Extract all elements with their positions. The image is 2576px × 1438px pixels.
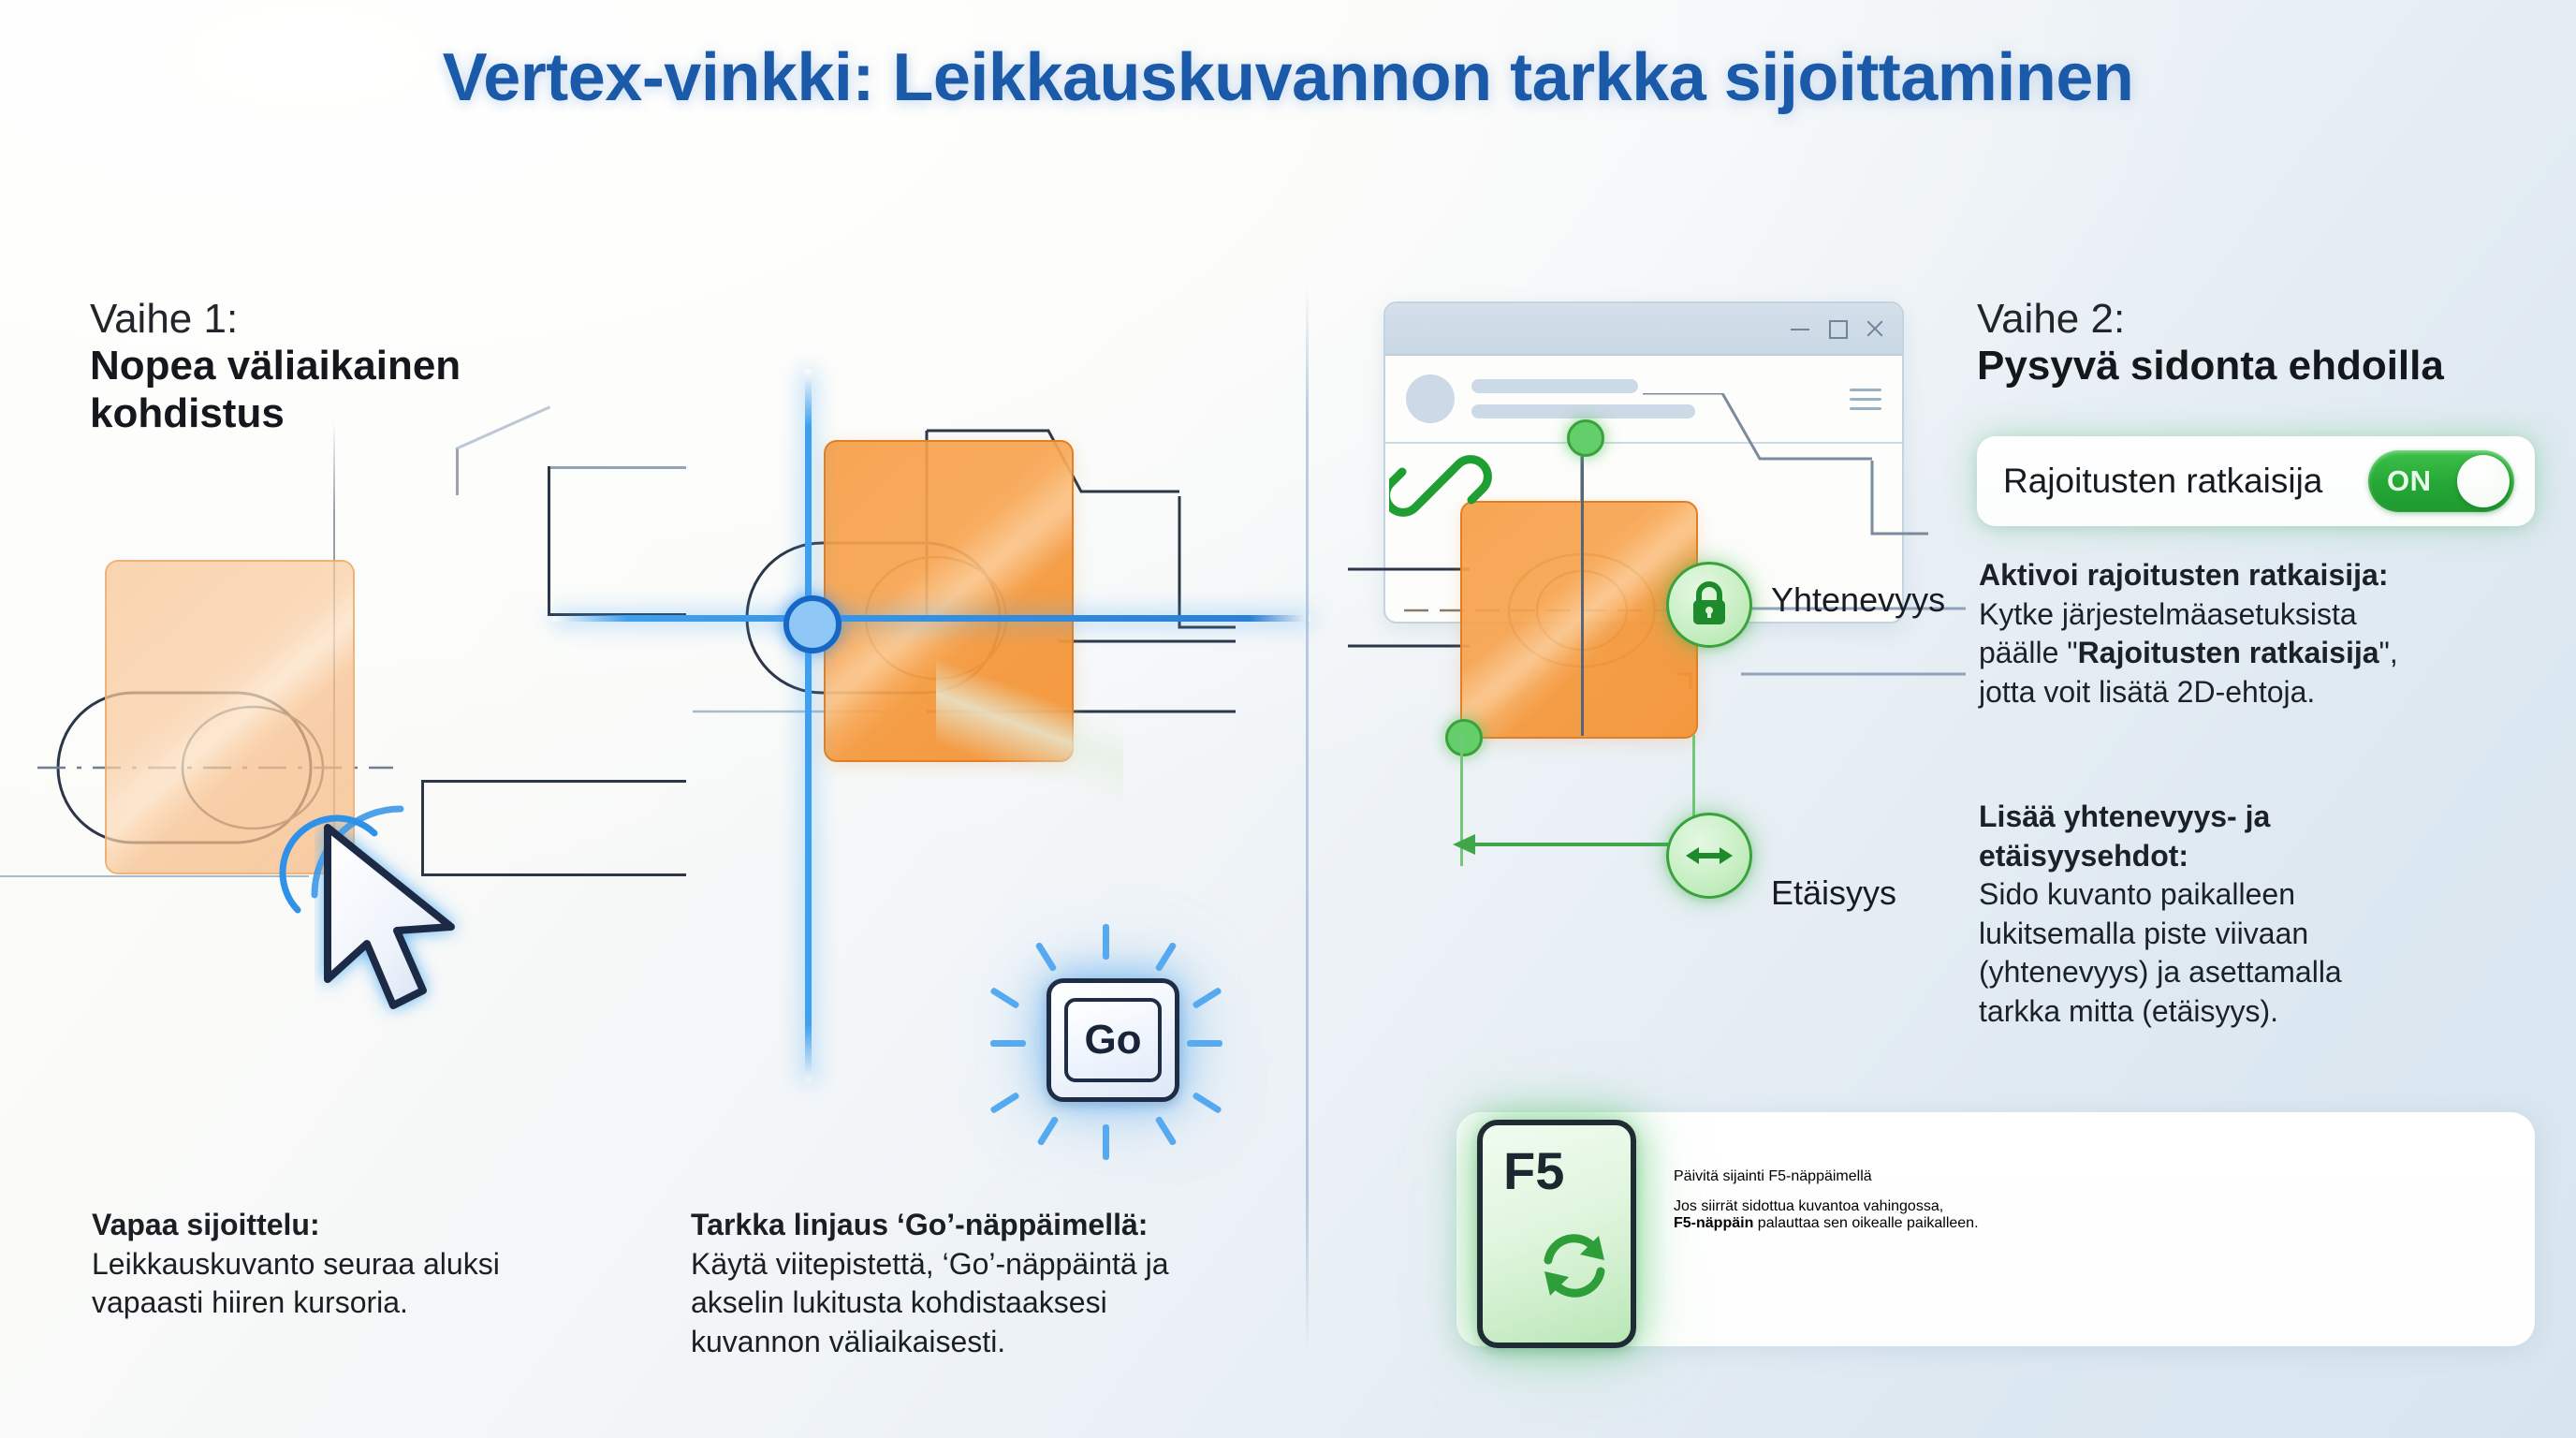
right-body-block-1: Aktivoi rajoitusten ratkaisija: Kytke jä… bbox=[1979, 556, 2540, 712]
right-body-block-2-line2: lukitsemalla piste viivaan bbox=[1979, 917, 2308, 950]
f5-callout-line2-bold: F5-näppäin bbox=[1674, 1215, 1753, 1231]
double-arrow-icon[interactable] bbox=[1666, 813, 1752, 899]
link-icon bbox=[1389, 442, 1492, 532]
window-title-bar bbox=[1385, 303, 1902, 356]
right-body-block-1-line2-pre: päälle " bbox=[1979, 636, 2078, 669]
diagram-constraints bbox=[1348, 393, 1966, 1105]
caption-free-placement: Vapaa sijoittelu: Leikkauskuvanto seuraa… bbox=[92, 1206, 616, 1323]
close-icon[interactable] bbox=[1865, 318, 1885, 339]
constraint-solver-label: Rajoitusten ratkaisija bbox=[2003, 462, 2322, 501]
right-body-block-2-line4: tarkka mitta (etäisyys). bbox=[1979, 994, 2278, 1028]
right-body-block-1-heading: Aktivoi rajoitusten ratkaisija: bbox=[1979, 556, 2540, 595]
constraint-solver-toggle[interactable]: ON bbox=[2368, 450, 2514, 512]
infographic-canvas: Vertex-vinkki: Leikkauskuvannon tarkka s… bbox=[0, 0, 2576, 1438]
step2-heading-group: Vaihe 2: Pysyvä sidonta ehdoilla bbox=[1977, 296, 2444, 389]
right-body-block-1-line1: Kytke järjestelmäasetuksista bbox=[1979, 597, 2357, 631]
reference-point bbox=[783, 595, 842, 653]
right-body-block-2-heading-line2: etäisyysehdot: bbox=[1979, 837, 2559, 876]
caption-go-alignment: Tarkka linjaus ‘Go’-näppäimellä: Käytä v… bbox=[691, 1206, 1224, 1361]
lock-icon[interactable] bbox=[1666, 562, 1752, 648]
right-body-block-2-line1: Sido kuvanto paikalleen bbox=[1979, 877, 2295, 911]
f5-key-label: F5 bbox=[1503, 1140, 1564, 1201]
f5-callout-line1: Jos siirrät sidottua kuvantoa vahingossa… bbox=[1674, 1198, 1943, 1214]
right-body-block-2: Lisää yhtenevyys- ja etäisyysehdot: Sido… bbox=[1979, 798, 2559, 1032]
label-distance: Etäisyys bbox=[1771, 873, 1896, 913]
step2-kicker: Vaihe 2: bbox=[1977, 296, 2444, 342]
refresh-icon bbox=[1531, 1223, 1617, 1309]
constraint-node-bottom-left[interactable] bbox=[1445, 719, 1483, 756]
go-key-button[interactable]: Go bbox=[1046, 978, 1179, 1102]
axis-lock-vertical bbox=[805, 370, 812, 1081]
caption-free-placement-body: Leikkauskuvanto seuraa aluksi vapaasti h… bbox=[92, 1247, 500, 1320]
label-coincident: Yhtenevyys bbox=[1771, 580, 1945, 620]
constraint-solver-setting-row[interactable]: Rajoitusten ratkaisija ON bbox=[1977, 436, 2535, 526]
right-body-block-1-line2-bold: Rajoitusten ratkaisija bbox=[2078, 636, 2379, 669]
f5-callout-line2-rest: palauttaa sen oikealle paikalleen. bbox=[1753, 1215, 1978, 1231]
lock-glyph bbox=[1688, 581, 1731, 628]
toggle-state-label: ON bbox=[2387, 464, 2432, 498]
f5-callout-title: Päivitä sijainti F5-näppäimellä bbox=[1674, 1168, 2507, 1185]
constraint-node-top[interactable] bbox=[1567, 419, 1604, 457]
section-view-bound bbox=[1460, 501, 1698, 739]
minimize-icon[interactable] bbox=[1790, 318, 1810, 339]
f5-key[interactable]: F5 bbox=[1477, 1120, 1636, 1348]
axis-lock-horizontal bbox=[552, 615, 1310, 622]
right-body-block-2-line3: (yhtenevyys) ja asettamalla bbox=[1979, 955, 2342, 989]
right-body-block-1-line3: jotta voit lisätä 2D-ehtoja. bbox=[1979, 675, 2315, 709]
mouse-cursor-icon bbox=[315, 822, 502, 1047]
f5-callout-text: Päivitä sijainti F5-näppäimellä Jos siir… bbox=[1674, 1168, 2507, 1232]
placeholder-bar bbox=[1471, 379, 1638, 393]
diagram-free-placement bbox=[0, 403, 655, 1114]
step1-kicker: Vaihe 1: bbox=[90, 296, 461, 342]
right-body-block-2-heading-line1: Lisää yhtenevyys- ja bbox=[1979, 798, 2559, 837]
toggle-knob bbox=[2457, 455, 2510, 507]
go-key-label: Go bbox=[1064, 998, 1162, 1082]
caption-free-placement-heading: Vapaa sijoittelu: bbox=[92, 1208, 320, 1241]
right-body-block-1-line2-post: ", bbox=[2379, 636, 2398, 669]
page-title: Vertex-vinkki: Leikkauskuvannon tarkka s… bbox=[0, 39, 2576, 116]
caption-go-alignment-body: Käytä viitepistettä, ‘Go’-näppäintä ja a… bbox=[691, 1247, 1169, 1358]
step2-title: Pysyvä sidonta ehdoilla bbox=[1977, 342, 2444, 389]
double-arrow-glyph bbox=[1685, 842, 1734, 870]
step1-title-line1: Nopea väliaikainen bbox=[90, 342, 461, 389]
maximize-icon[interactable] bbox=[1827, 318, 1848, 339]
caption-go-alignment-heading: Tarkka linjaus ‘Go’-näppäimellä: bbox=[691, 1208, 1148, 1241]
